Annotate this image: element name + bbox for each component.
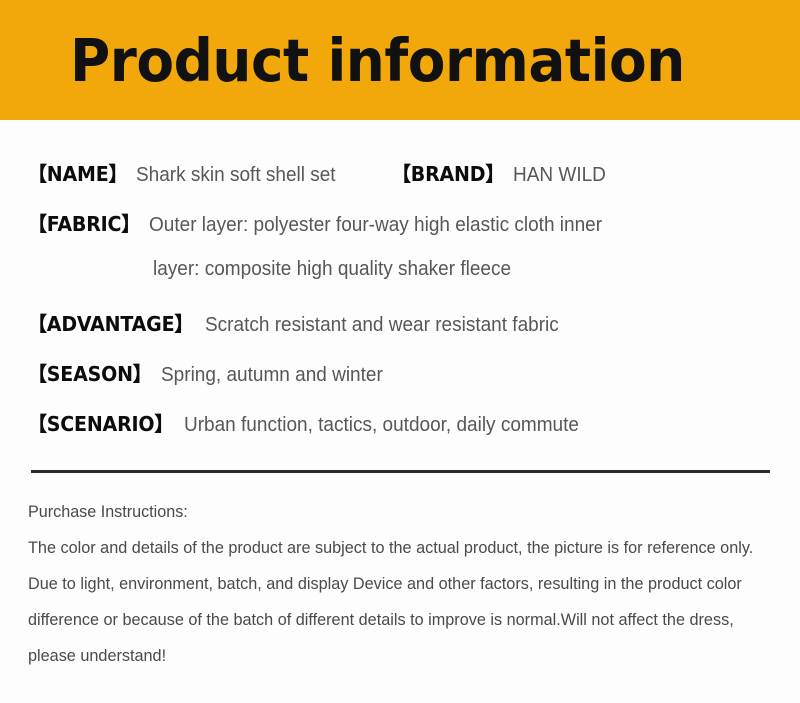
spec-value-season: Spring, autumn and winter	[161, 364, 383, 387]
spec-value-fabric-continued: layer: composite high quality shaker fle…	[153, 258, 511, 281]
spec-label-fabric: 【FABRIC】	[28, 208, 140, 237]
purchase-instructions-body: The color and details of the product are…	[28, 530, 775, 674]
spec-label-name: 【NAME】	[28, 158, 127, 187]
spec-row-scenario: 【SCENARIO】 Urban function, tactics, outd…	[0, 408, 800, 458]
spec-value-brand: HAN WILD	[513, 164, 606, 187]
purchase-instructions-heading: Purchase Instructions:	[28, 494, 739, 530]
header-banner: Product information	[0, 0, 800, 120]
spec-row-name: 【NAME】 Shark skin soft shell set 【BRAND】…	[0, 120, 800, 208]
spec-label-advantage: 【ADVANTAGE】	[28, 308, 193, 337]
spec-value-fabric: Outer layer: polyester four-way high ela…	[149, 214, 602, 237]
specification-list: 【NAME】 Shark skin soft shell set 【BRAND】…	[0, 120, 800, 458]
spec-group-brand: 【BRAND】 HAN WILD	[392, 158, 611, 187]
spec-value-name: Shark skin soft shell set	[136, 164, 336, 187]
spec-value-advantage: Scratch resistant and wear resistant fab…	[205, 314, 559, 337]
spec-row-fabric-continuation: layer: composite high quality shaker fle…	[0, 258, 800, 308]
purchase-instructions-section: Purchase Instructions: The color and det…	[28, 494, 776, 674]
spec-label-season: 【SEASON】	[28, 358, 152, 387]
spec-value-scenario: Urban function, tactics, outdoor, daily …	[184, 414, 579, 437]
spec-row-advantage: 【ADVANTAGE】 Scratch resistant and wear r…	[0, 308, 800, 358]
spec-row-season: 【SEASON】 Spring, autumn and winter	[0, 358, 800, 408]
page-title: Product information	[70, 31, 685, 90]
product-information-page: Product information 【NAME】 Shark skin so…	[0, 0, 800, 703]
spec-row-fabric: 【FABRIC】 Outer layer: polyester four-way…	[0, 208, 800, 258]
spec-label-scenario: 【SCENARIO】	[28, 408, 173, 437]
section-divider	[31, 470, 770, 473]
spec-label-brand: 【BRAND】	[392, 158, 504, 187]
